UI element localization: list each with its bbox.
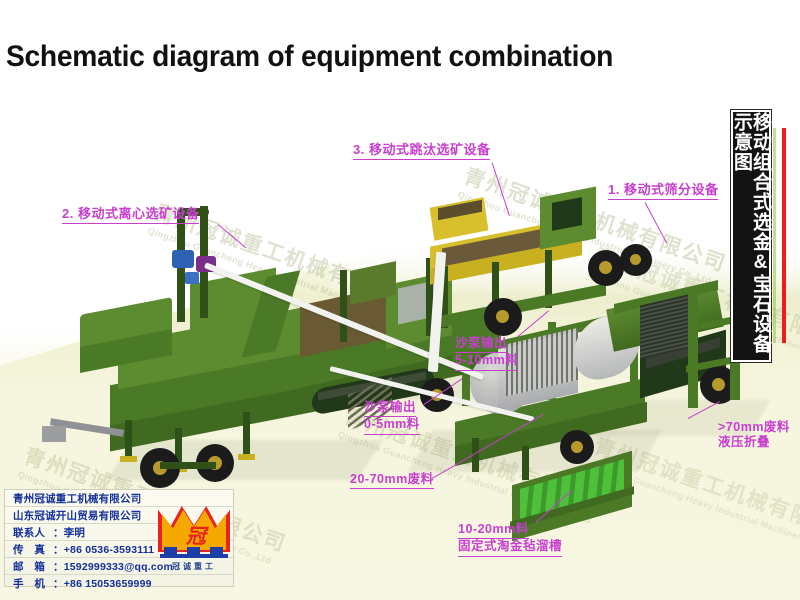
machine-2-valve — [185, 272, 199, 284]
annotation-label-3: 3. 移动式跳汰选矿设备 — [353, 142, 490, 160]
annotation-pump-0-5: 沙泵输出 0-5mm料 — [364, 400, 420, 435]
logo-base-bar — [160, 554, 228, 558]
diagram-canvas: 青州冠诚重工机械有限公司 Qingzhou Guancheng Heavy In… — [0, 0, 800, 600]
support-leg — [243, 412, 250, 456]
annotation-waste-20-70-text: 20-70mm废料 — [350, 472, 434, 489]
vertical-banner-text: 移动组合式选金&宝石设备示意图 — [732, 112, 770, 360]
contact-label: 联系人 — [13, 525, 53, 540]
annotation-pump-0-5-line1: 沙泵输出 — [364, 400, 416, 417]
email-label: 邮 箱 — [13, 559, 53, 574]
stacker-screen-panel — [640, 294, 688, 359]
fax-value: ：+86 0536-3593111 — [53, 542, 154, 557]
banner-red-bar — [782, 128, 786, 343]
logo-mark: 冠 — [186, 520, 206, 549]
hitch-plate — [42, 426, 66, 442]
logo-company-name: 冠诚重工 — [160, 561, 228, 572]
contact-value: ：李明 — [53, 525, 85, 540]
vertical-banner: 移动组合式选金&宝石设备示意图 — [731, 110, 771, 362]
company-name-1: 青州冠诚重工机械有限公司 — [13, 491, 141, 506]
annotation-label-2-text: 2. 移动式离心选矿设备 — [62, 206, 199, 224]
wheel-hub — [571, 441, 583, 453]
annotation-sluice-line2: 固定式淘金毡溜槽 — [458, 539, 562, 556]
annotation-label-3-text: 3. 移动式跳汰选矿设备 — [353, 142, 490, 160]
annotation-label-1: 1. 移动式筛分设备 — [608, 182, 718, 200]
company-row: 青州冠诚重工机械有限公司 — [5, 490, 233, 507]
machine-1-engine-grill — [552, 197, 582, 231]
machine-2-motor — [172, 250, 194, 268]
support-leg — [125, 420, 132, 458]
banner-green-bar — [773, 128, 776, 343]
annotation-waste-70: >70mm废料 液压折叠 — [718, 420, 790, 451]
wheel-hub — [630, 254, 641, 265]
annotation-sluice-line1: 10-20mm料 — [458, 522, 529, 539]
annotation-pump-5-10-line2: 5-10mm料 — [455, 353, 518, 370]
annotation-waste-70-line2: 液压折叠 — [718, 435, 770, 449]
annotation-pump-5-10-line1: 沙泵输出 — [455, 336, 507, 353]
wheel-hub — [599, 261, 612, 274]
annotation-label-1-text: 1. 移动式筛分设备 — [608, 182, 718, 200]
company-logo: 冠 冠诚重工 — [156, 506, 232, 578]
page-title: Schematic diagram of equipment combinati… — [6, 40, 613, 74]
annotation-waste-70-line1: >70mm废料 — [718, 420, 790, 434]
annotation-pump-5-10: 沙泵输出 5-10mm料 — [455, 336, 518, 371]
annotation-sluice: 10-20mm料 固定式淘金毡溜槽 — [458, 522, 562, 557]
stacker-tower — [688, 292, 698, 408]
axle — [160, 462, 216, 469]
support-foot — [238, 454, 255, 460]
support-leg — [522, 446, 529, 480]
annotation-label-2: 2. 移动式离心选矿设备 — [62, 206, 199, 224]
wheel-hub — [496, 310, 509, 323]
leader-line-3 — [491, 162, 510, 216]
mobile-value: ：+86 15053659999 — [53, 576, 152, 591]
wheel-hub — [712, 378, 725, 391]
machine-3-column — [340, 270, 347, 342]
company-name-2: 山东冠诚开山贸易有限公司 — [13, 508, 141, 523]
fax-label: 传 真 — [13, 542, 53, 557]
annotation-waste-20-70: 20-70mm废料 — [350, 472, 434, 489]
support-foot — [120, 456, 137, 462]
annotation-pump-0-5-line2: 0-5mm料 — [364, 417, 420, 434]
mobile-label: 手 机 — [13, 576, 53, 591]
